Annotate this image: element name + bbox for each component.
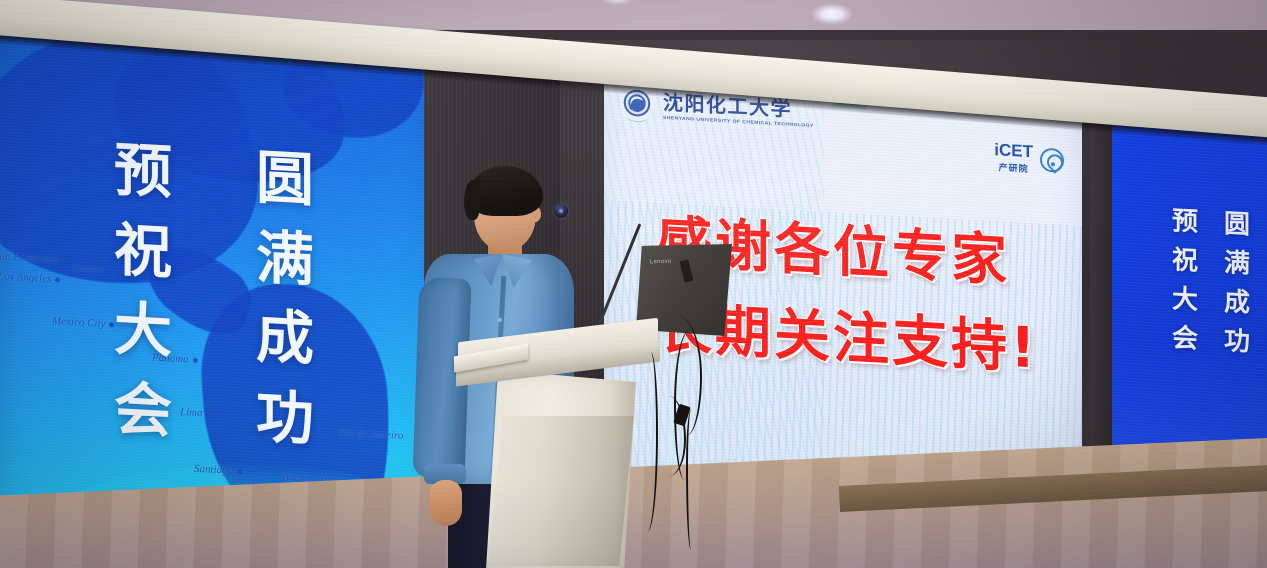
institute-mark-cn: 产研院 <box>994 160 1033 175</box>
cn-char: 功 <box>256 389 314 448</box>
presenter-hair <box>464 180 480 220</box>
map-city-label: Los Angeles <box>0 270 60 285</box>
cn-char: 大 <box>1172 287 1198 313</box>
cable <box>686 410 696 550</box>
cn-char: 会 <box>114 382 172 441</box>
cn-char: 预 <box>1172 209 1198 235</box>
right-screen-text-column-1: 预 祝 大 会 <box>1172 209 1198 352</box>
institute-swirl-icon <box>1040 148 1064 173</box>
map-city-label: Denver <box>72 262 104 276</box>
lectern-shading <box>488 416 634 566</box>
cn-char: 祝 <box>1172 248 1198 274</box>
cn-char: 会 <box>1172 326 1198 352</box>
cn-char: 满 <box>256 230 314 289</box>
institute-logo: iCET 产研院 <box>994 141 1064 177</box>
left-screen-text-column-1: 预 祝 大 会 <box>114 142 172 440</box>
cn-char: 圆 <box>1224 212 1250 238</box>
laptop-brand-label: Lenovo <box>650 259 672 266</box>
map-city-label: Mexico City <box>52 315 114 330</box>
lectern: Lenovo <box>458 308 658 568</box>
left-screen-text-column-2: 圆 满 成 功 <box>256 150 314 448</box>
cn-char: 预 <box>114 142 172 201</box>
cn-char: 祝 <box>114 222 172 281</box>
institute-mark-text: iCET <box>994 141 1033 160</box>
cn-char: 满 <box>1224 251 1250 277</box>
cn-char: 大 <box>114 302 172 361</box>
map-city-label: Santiago <box>194 463 242 478</box>
downlight-icon <box>812 4 852 24</box>
photo-scene: San Francisco Los Angeles Denver Mexico … <box>0 0 1267 568</box>
cn-char: 圆 <box>256 150 314 209</box>
cn-char: 功 <box>1224 329 1250 355</box>
right-screen-text-column-2: 圆 满 成 功 <box>1224 212 1250 355</box>
map-city-label: Lima <box>180 406 212 420</box>
microphone-led <box>559 209 563 213</box>
cn-char: 成 <box>256 310 314 369</box>
cn-char: 成 <box>1224 290 1250 316</box>
downlight-icon <box>600 0 634 5</box>
